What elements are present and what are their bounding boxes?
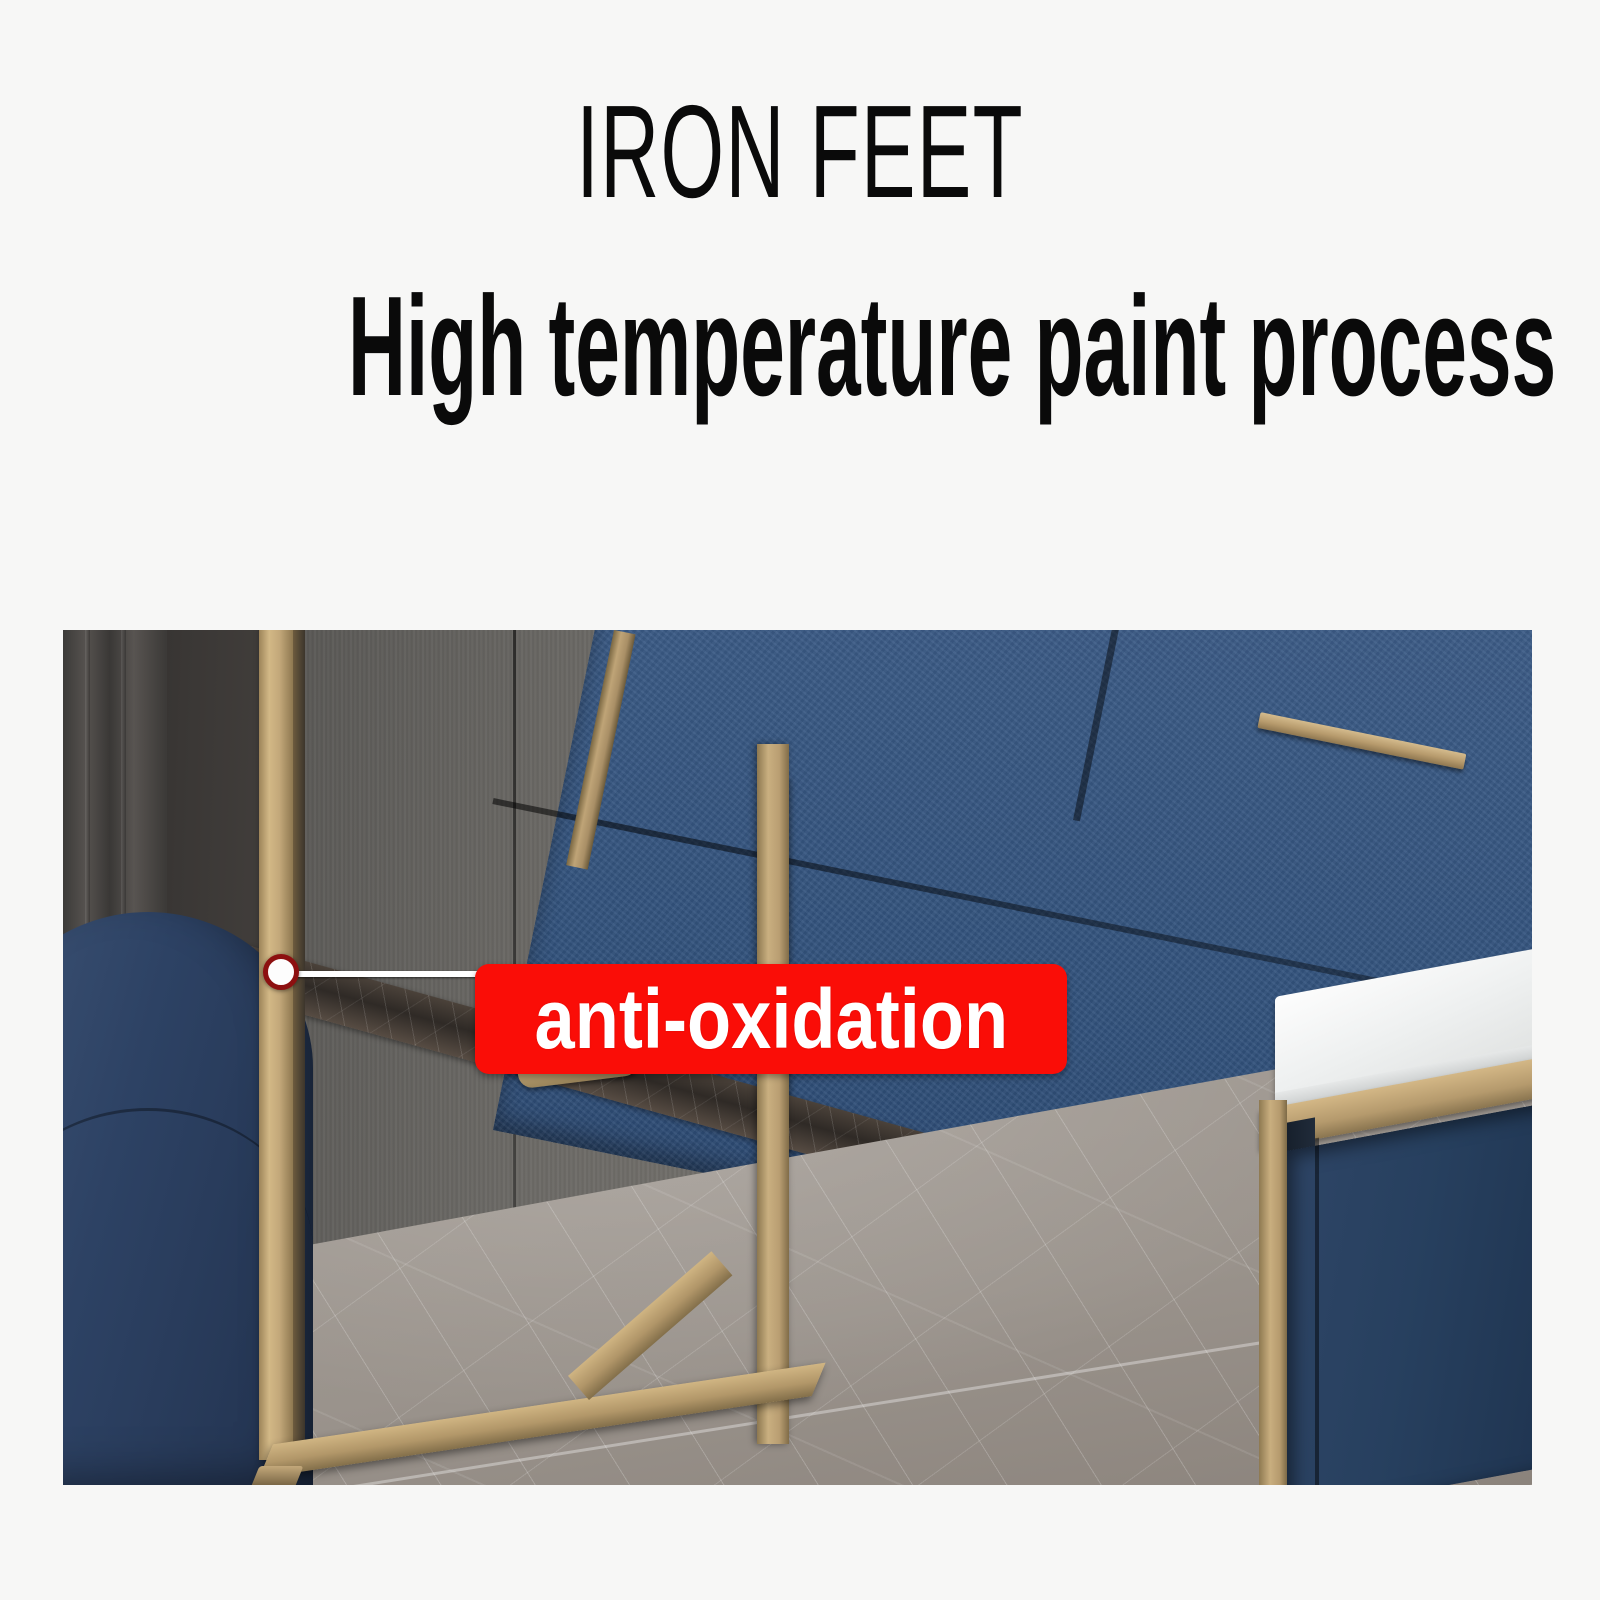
- header-section: IRON FEET High temperature paint process: [0, 0, 1600, 600]
- page-subtitle: High temperature paint process: [348, 276, 1252, 418]
- leg-floor-cap: [251, 1466, 304, 1485]
- blue-door-panel: [1287, 1101, 1532, 1485]
- side-cabinet: [1223, 970, 1532, 1485]
- callout-marker-dot: [263, 954, 299, 990]
- leg-left-post: [259, 630, 293, 1460]
- callout-badge: anti-oxidation: [475, 964, 1067, 1074]
- door-seam: [1315, 1138, 1319, 1485]
- product-photo: anti-oxidation: [63, 630, 1532, 1485]
- leg-bottom-rail: [259, 1363, 826, 1478]
- callout-badge-label: anti-oxidation: [534, 977, 1008, 1061]
- page-title: IRON FEET: [304, 86, 1296, 218]
- leg-right-post: [757, 744, 789, 1444]
- leg-angled-corner: [568, 1251, 732, 1400]
- gold-frame-left: [1259, 1100, 1287, 1485]
- leg-left-post-shadow: [293, 630, 305, 1460]
